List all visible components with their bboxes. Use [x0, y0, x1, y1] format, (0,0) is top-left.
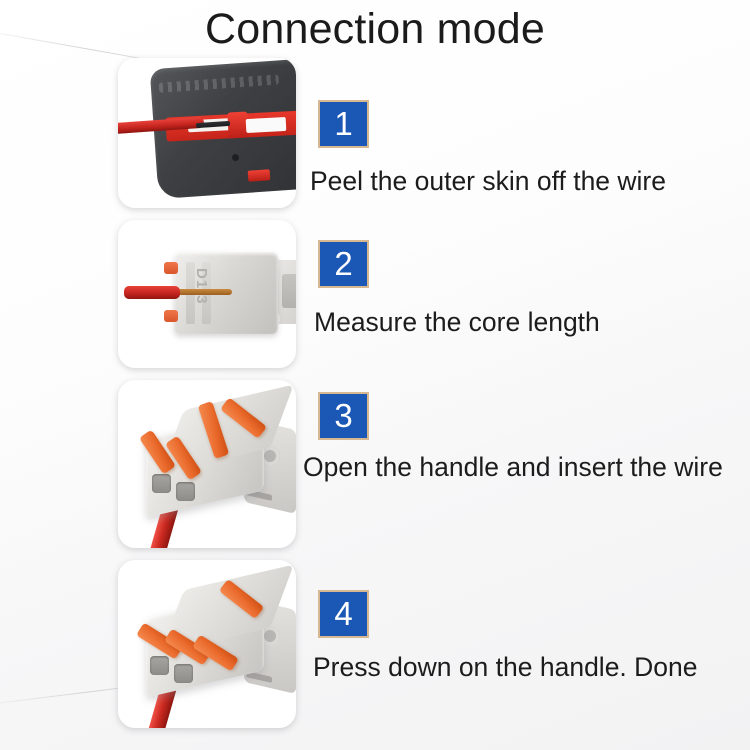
step-2-caption: Measure the core length — [314, 305, 600, 339]
step-2-photo-card: D1-3 — [118, 220, 296, 368]
connector-levers-open-photo — [118, 380, 296, 548]
connector-window — [282, 274, 296, 308]
stripper-pivot-hole — [232, 154, 239, 161]
step-1-caption: Peel the outer skin off the wire — [310, 164, 666, 198]
connector-lug-top — [164, 262, 178, 274]
step-1-number-badge: 1 — [318, 100, 369, 148]
connector-port-2 — [174, 664, 193, 683]
step-4-photo-card — [118, 560, 296, 728]
step-3-number-badge: 3 — [318, 392, 369, 440]
red-wire — [124, 286, 180, 299]
connector-levers-closed-photo — [118, 560, 296, 728]
step-3-photo-card — [118, 380, 296, 548]
connector-measure-photo: D1-3 — [118, 220, 296, 368]
step-4-caption: Press down on the handle. Done — [313, 650, 698, 684]
wire-copper-core — [174, 289, 232, 295]
connector-port-2 — [176, 482, 195, 501]
connector-lug-bottom — [164, 310, 178, 322]
page-title: Connection mode — [0, 2, 750, 56]
stripper-jaw-right — [246, 117, 287, 133]
connector-port-1 — [152, 474, 171, 493]
step-4-number-badge: 4 — [318, 590, 369, 638]
step-2-number-badge: 2 — [318, 240, 369, 288]
connector-port-1 — [150, 656, 169, 675]
wire-stripper-photo — [118, 58, 296, 208]
stripper-red-tab — [248, 169, 271, 182]
step-1-photo-card — [118, 58, 296, 208]
connection-mode-infographic: Connection mode 1 Peel the outer skin of… — [0, 0, 750, 750]
step-3-caption: Open the handle and insert the wire — [303, 450, 723, 484]
